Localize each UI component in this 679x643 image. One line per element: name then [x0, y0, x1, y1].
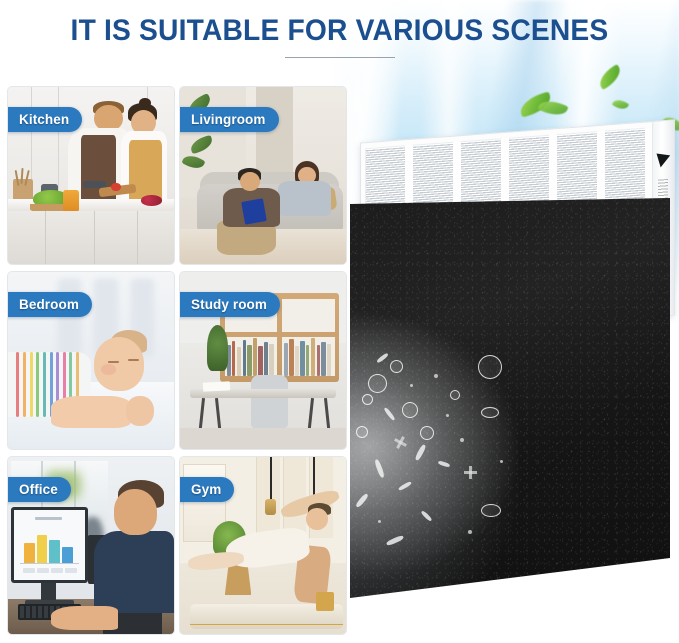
chair: [251, 375, 288, 428]
book: [241, 199, 266, 225]
scene-badge-bedroom: Bedroom: [7, 292, 92, 317]
title-divider: [285, 57, 395, 58]
computer-monitor: [11, 507, 87, 583]
scene-grid: Kitchen: [7, 86, 347, 635]
scene-tile-kitchen[interactable]: Kitchen: [7, 86, 175, 265]
papers: [203, 381, 230, 391]
particle-icon: [362, 394, 373, 405]
particle-icon: [368, 374, 387, 393]
particle-icon: [420, 426, 434, 440]
scene-tile-gym[interactable]: Gym: [179, 456, 347, 635]
carbon-filter-panel: [350, 198, 670, 598]
airflow-arrow-icon: [654, 153, 670, 168]
scene-badge-kitchen: Kitchen: [7, 107, 82, 132]
yoga-block: [316, 592, 334, 611]
dust-dot-icon: [434, 374, 438, 378]
dust-dot-icon: [446, 414, 449, 417]
page-title: IT IS SUITABLE FOR VARIOUS SCENES: [20, 14, 658, 48]
particle-icon: [450, 390, 460, 400]
scene-tile-bedroom[interactable]: Bedroom: [7, 271, 175, 450]
dust-dot-icon: [378, 520, 381, 523]
dust-dot-icon: [410, 384, 413, 387]
particle-icon: [478, 355, 502, 379]
monitor-screen: [14, 510, 84, 580]
particle-icon: [356, 426, 368, 438]
scene-badge-office: Office: [7, 477, 71, 502]
scene-badge-livingroom: Livingroom: [179, 107, 279, 132]
particle-icon: [481, 504, 501, 517]
scene-tile-office[interactable]: Office: [7, 456, 175, 635]
scene-badge-study-room: Study room: [179, 292, 280, 317]
plant: [207, 325, 229, 371]
cross-particle-icon: [464, 466, 477, 479]
dust-dot-icon: [500, 460, 503, 463]
scene-tile-livingroom[interactable]: Livingroom: [179, 86, 347, 265]
product-feature-image: IT IS SUITABLE FOR VARIOUS SCENES: [0, 0, 679, 643]
particle-icon: [402, 402, 418, 418]
particle-icon: [481, 407, 499, 418]
suspension-handle: [265, 499, 276, 515]
particle-icon: [390, 360, 403, 373]
dust-dot-icon: [468, 530, 472, 534]
dust-dot-icon: [460, 438, 464, 442]
scene-tile-study-room[interactable]: Study room: [179, 271, 347, 450]
scene-badge-gym: Gym: [179, 477, 234, 502]
